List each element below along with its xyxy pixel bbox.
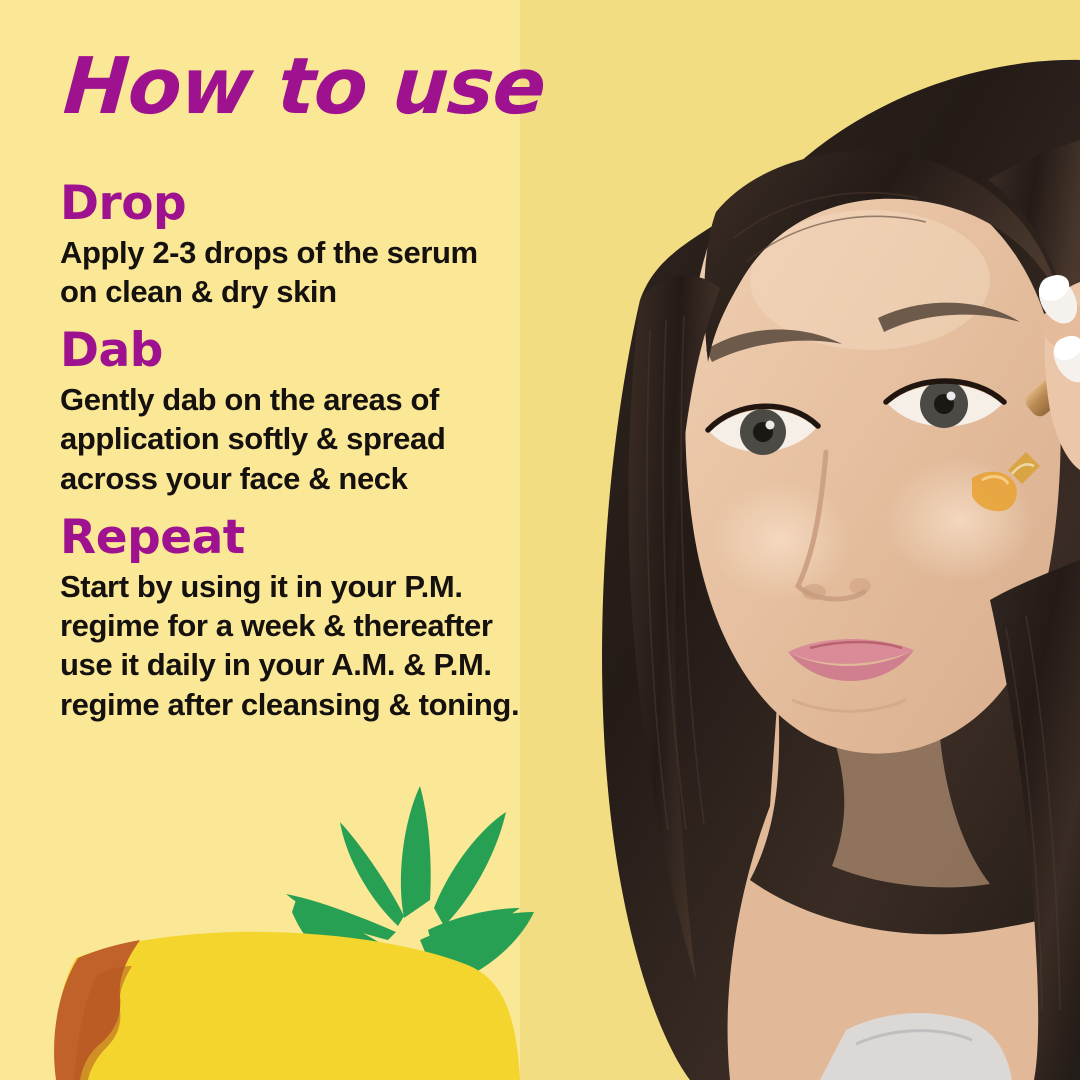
poster-canvas: How to use Drop Apply 2-3 drops of the s… [0, 0, 1080, 1080]
step-body-drop: Apply 2-3 drops of the serum on clean & … [60, 233, 580, 312]
step-body-repeat: Start by using it in your P.M. regime fo… [60, 567, 580, 724]
step-heading-repeat: Repeat [60, 512, 580, 565]
step-item-repeat: Repeat Start by using it in your P.M. re… [60, 512, 580, 724]
model-photo [520, 0, 1080, 1080]
step-item-drop: Drop Apply 2-3 drops of the serum on cle… [60, 178, 580, 311]
step-heading-dab: Dab [60, 325, 580, 378]
text-column: How to use Drop Apply 2-3 drops of the s… [0, 0, 600, 1080]
steps-list: Drop Apply 2-3 drops of the serum on cle… [60, 178, 580, 730]
forehead-highlight [750, 210, 990, 350]
step-body-dab: Gently dab on the areas of application s… [60, 380, 580, 498]
cheek-highlight-left [710, 480, 850, 600]
model-photo-illustration [520, 0, 1080, 1080]
page-title: How to use [61, 48, 547, 126]
cheek-highlight-right [885, 458, 1035, 582]
step-item-dab: Dab Gently dab on the areas of applicati… [60, 325, 580, 498]
step-heading-drop: Drop [60, 178, 580, 231]
